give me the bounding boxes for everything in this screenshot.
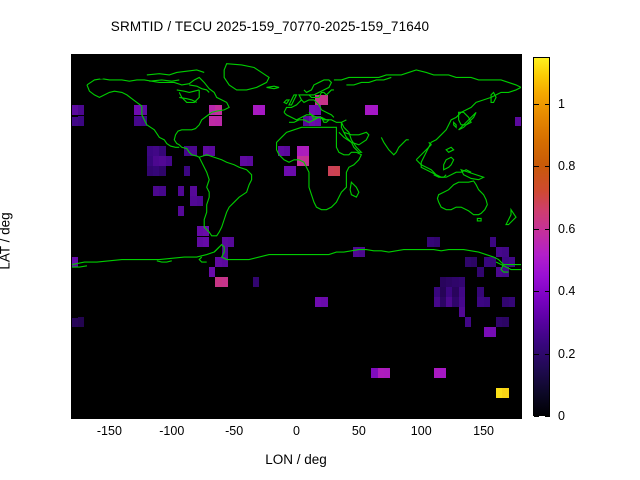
heatmap-cell [502,317,508,327]
y-tick-mark [72,156,78,157]
x-tick-label: 0 [293,424,300,438]
map-plot-area[interactable] [72,55,521,418]
y-tick-label: 60 [98,109,112,123]
y-tick-mark [72,237,78,238]
y-tick-mark [72,317,78,318]
colorbar-tick-mark [545,291,550,292]
y-tick-mark [515,75,521,76]
y-tick-mark [72,398,78,399]
colorbar-tick-label: 0.6 [558,222,575,236]
y-tick-mark [515,116,521,117]
y-tick-mark [515,156,521,157]
colorbar-tick-mark [534,166,539,167]
y-tick-mark [72,196,78,197]
x-tick-label: -50 [225,424,243,438]
colorbar-tick-mark [534,291,539,292]
colorbar-tick-mark [545,416,550,417]
colorbar-tick-label: 0 [558,409,565,423]
y-tick-mark [515,317,521,318]
x-tick-mark [234,55,235,61]
heatmap-cell [509,297,515,307]
x-tick-label: 150 [473,424,494,438]
heatmap-cell [78,317,84,327]
x-tick-mark [421,412,422,418]
x-tick-mark [484,412,485,418]
y-tick-mark [72,75,78,76]
colorbar-tick-mark [534,354,539,355]
heatmap-cell [321,297,327,307]
x-tick-label: -100 [159,424,184,438]
x-tick-mark [297,412,298,418]
x-tick-mark [109,412,110,418]
x-tick-label: -150 [97,424,122,438]
x-tick-mark [172,412,173,418]
y-tick-label: 0 [105,230,112,244]
heatmap-cell [459,307,465,317]
y-tick-mark [72,116,78,117]
heatmap-cell [459,297,465,307]
colorbar[interactable] [533,57,550,416]
x-axis-label: LON / deg [265,452,327,467]
colorbar-tick-mark [534,416,539,417]
x-tick-mark [484,55,485,61]
x-tick-mark [297,55,298,61]
colorbar-tick-mark [545,354,550,355]
colorbar-tick-label: 0.2 [558,347,575,361]
y-tick-label: 80 [98,68,112,82]
y-axis-label: LAT / deg [0,212,13,269]
y-tick-label: 40 [98,149,112,163]
heatmap-cell [465,317,471,327]
heatmap-cell [484,297,490,307]
colorbar-tick-label: 0.8 [558,159,575,173]
chart-title: SRMTID / TECU 2025-159_70770-2025-159_71… [0,19,540,34]
x-tick-label: 50 [352,424,366,438]
y-tick-mark [515,237,521,238]
y-tick-mark [515,398,521,399]
heatmap-cell [490,327,496,337]
x-tick-mark [172,55,173,61]
y-tick-mark [72,277,78,278]
heatmap-cell [502,388,508,398]
y-tick-mark [515,277,521,278]
coastline-overlay [72,55,521,280]
y-tick-label: -40 [94,310,112,324]
colorbar-tick-mark [545,229,550,230]
heatmap-cell [440,368,446,378]
x-tick-mark [109,55,110,61]
y-tick-label: -80 [94,391,112,405]
colorbar-tick-mark [545,104,550,105]
colorbar-tick-label: 0.4 [558,284,575,298]
colorbar-tick-mark [534,104,539,105]
colorbar-tick-mark [545,166,550,167]
y-tick-mark [515,196,521,197]
y-tick-label: 20 [98,189,112,203]
y-tick-mark [515,358,521,359]
x-tick-mark [359,412,360,418]
heatmap-cell [459,287,465,297]
colorbar-tick-mark [534,229,539,230]
heatmap-cell [384,368,390,378]
x-tick-mark [421,55,422,61]
heatmap-cell [477,287,483,297]
x-tick-label: 100 [411,424,432,438]
y-tick-label: -60 [94,351,112,365]
chart-root: SRMTID / TECU 2025-159_70770-2025-159_71… [0,0,640,480]
x-tick-mark [359,55,360,61]
y-tick-label: -20 [94,270,112,284]
y-tick-mark [72,358,78,359]
x-tick-mark [234,412,235,418]
colorbar-tick-label: 1 [558,97,565,111]
